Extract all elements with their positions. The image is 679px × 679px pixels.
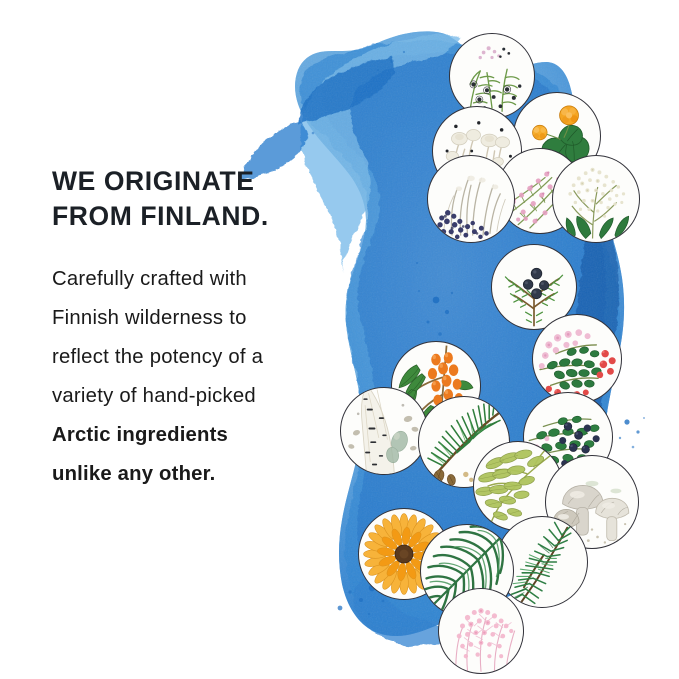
body-paragraph: Carefully crafted with Finnish wildernes…	[52, 234, 352, 494]
copy-block: WE ORIGINATE FROM FINLAND. Carefully cra…	[52, 164, 352, 494]
body-line-4: variety of hand-picked	[52, 377, 352, 416]
poster-canvas: WE ORIGINATE FROM FINLAND. Carefully cra…	[0, 0, 679, 679]
headline-line-1: WE ORIGINATE	[52, 164, 352, 199]
ingredient-circle-bilberry	[427, 155, 515, 243]
ingredient-circle-crowberry	[449, 33, 535, 119]
ingredient-circle-meadowsweet	[552, 155, 640, 243]
body-line-6: unlike any other.	[52, 455, 352, 494]
page-title: WE ORIGINATE FROM FINLAND.	[52, 164, 352, 234]
body-line-5: Arctic ingredients	[52, 416, 352, 455]
ingredient-circle-lingonberry	[532, 314, 622, 404]
headline-line-2: FROM FINLAND.	[52, 199, 352, 234]
ingredient-circle-birch	[340, 387, 428, 475]
body-line-1: Carefully crafted with	[52, 260, 352, 299]
ingredient-circle-willowherb	[438, 588, 524, 674]
body-line-2: Finnish wilderness to	[52, 299, 352, 338]
body-line-3: reflect the potency of a	[52, 338, 352, 377]
